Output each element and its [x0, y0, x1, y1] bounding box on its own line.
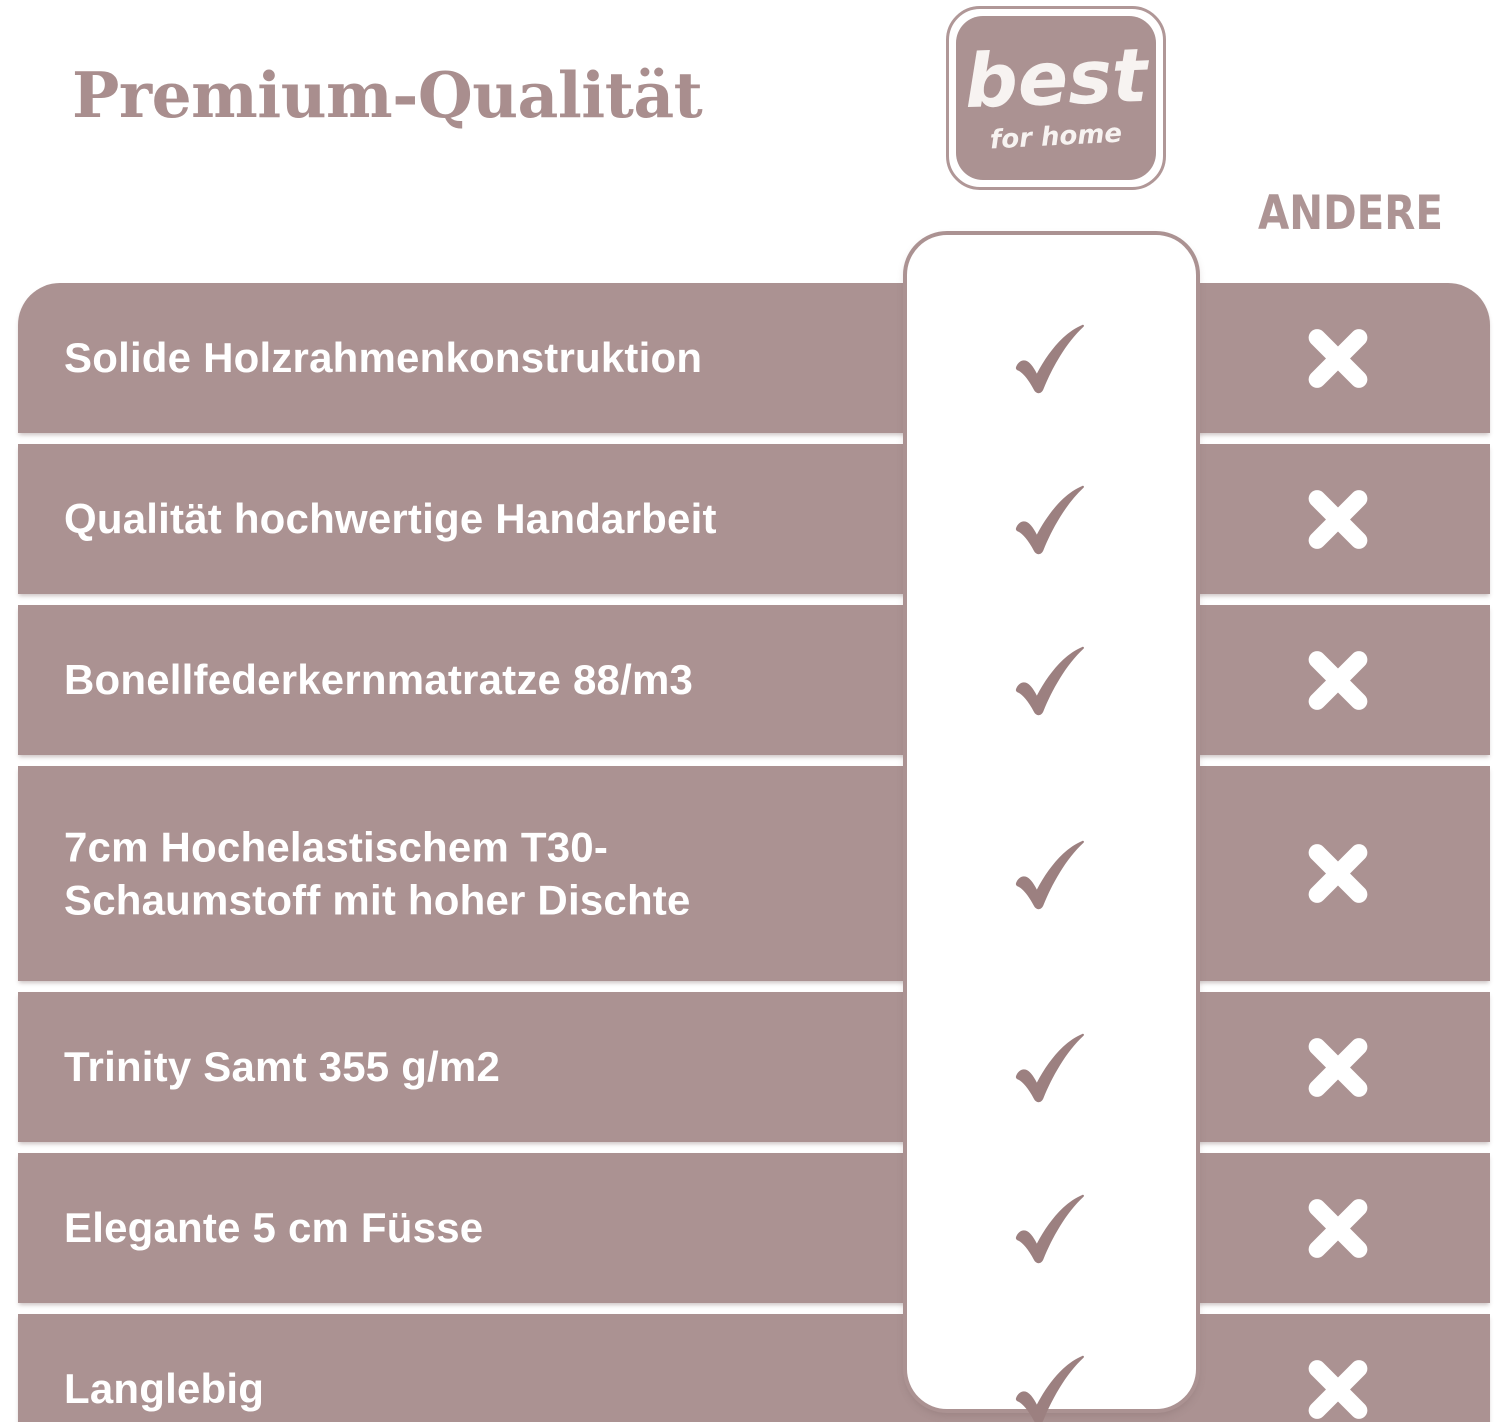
brand-logo: best for home — [946, 6, 1166, 190]
check-icon — [1004, 636, 1100, 732]
table-row: Trinity Samt 355 g/m2 — [18, 992, 1490, 1142]
cross-icon — [1301, 1352, 1375, 1422]
check-icon — [1004, 830, 1100, 926]
check-icon — [1004, 1023, 1100, 1119]
feature-label: Qualität hochwertige Handarbeit — [64, 492, 884, 546]
comparison-infographic: Premium-Qualität best for home ANDERE So… — [0, 0, 1500, 1422]
feature-label: Solide Holzrahmenkonstruktion — [64, 331, 884, 385]
brand-tagline: for home — [989, 121, 1122, 154]
table-row: 7cm Hochelastischem T30- Schaumstoff mit… — [18, 766, 1490, 981]
table-row: Solide Holzrahmenkonstruktion — [18, 283, 1490, 433]
check-icon — [1004, 314, 1100, 410]
brand-logo-plate: best for home — [956, 16, 1156, 180]
brand-wordmark: best — [963, 39, 1148, 119]
feature-label: Langlebig — [64, 1362, 884, 1416]
check-icon — [1004, 1184, 1100, 1280]
table-row: Langlebig — [18, 1314, 1490, 1422]
cross-icon — [1301, 1191, 1375, 1265]
feature-label: Elegante 5 cm Füsse — [64, 1201, 884, 1255]
cross-icon — [1301, 837, 1375, 911]
table-row: Qualität hochwertige Handarbeit — [18, 444, 1490, 594]
table-row: Elegante 5 cm Füsse — [18, 1153, 1490, 1303]
check-icon — [1004, 1345, 1100, 1422]
cross-icon — [1301, 482, 1375, 556]
feature-label: Trinity Samt 355 g/m2 — [64, 1040, 884, 1094]
cross-icon — [1301, 643, 1375, 717]
page-title: Premium-Qualität — [72, 64, 702, 127]
cross-icon — [1301, 1030, 1375, 1104]
cross-icon — [1301, 321, 1375, 395]
best-column-highlight — [903, 231, 1200, 1413]
feature-label: Bonellfederkernmatratze 88/m3 — [64, 653, 884, 707]
feature-label: 7cm Hochelastischem T30- Schaumstoff mit… — [64, 820, 884, 928]
check-icon — [1004, 475, 1100, 571]
table-row: Bonellfederkernmatratze 88/m3 — [18, 605, 1490, 755]
others-column-header: ANDERE — [1258, 190, 1443, 237]
feature-row-list: Solide HolzrahmenkonstruktionQualität ho… — [18, 283, 1490, 1422]
